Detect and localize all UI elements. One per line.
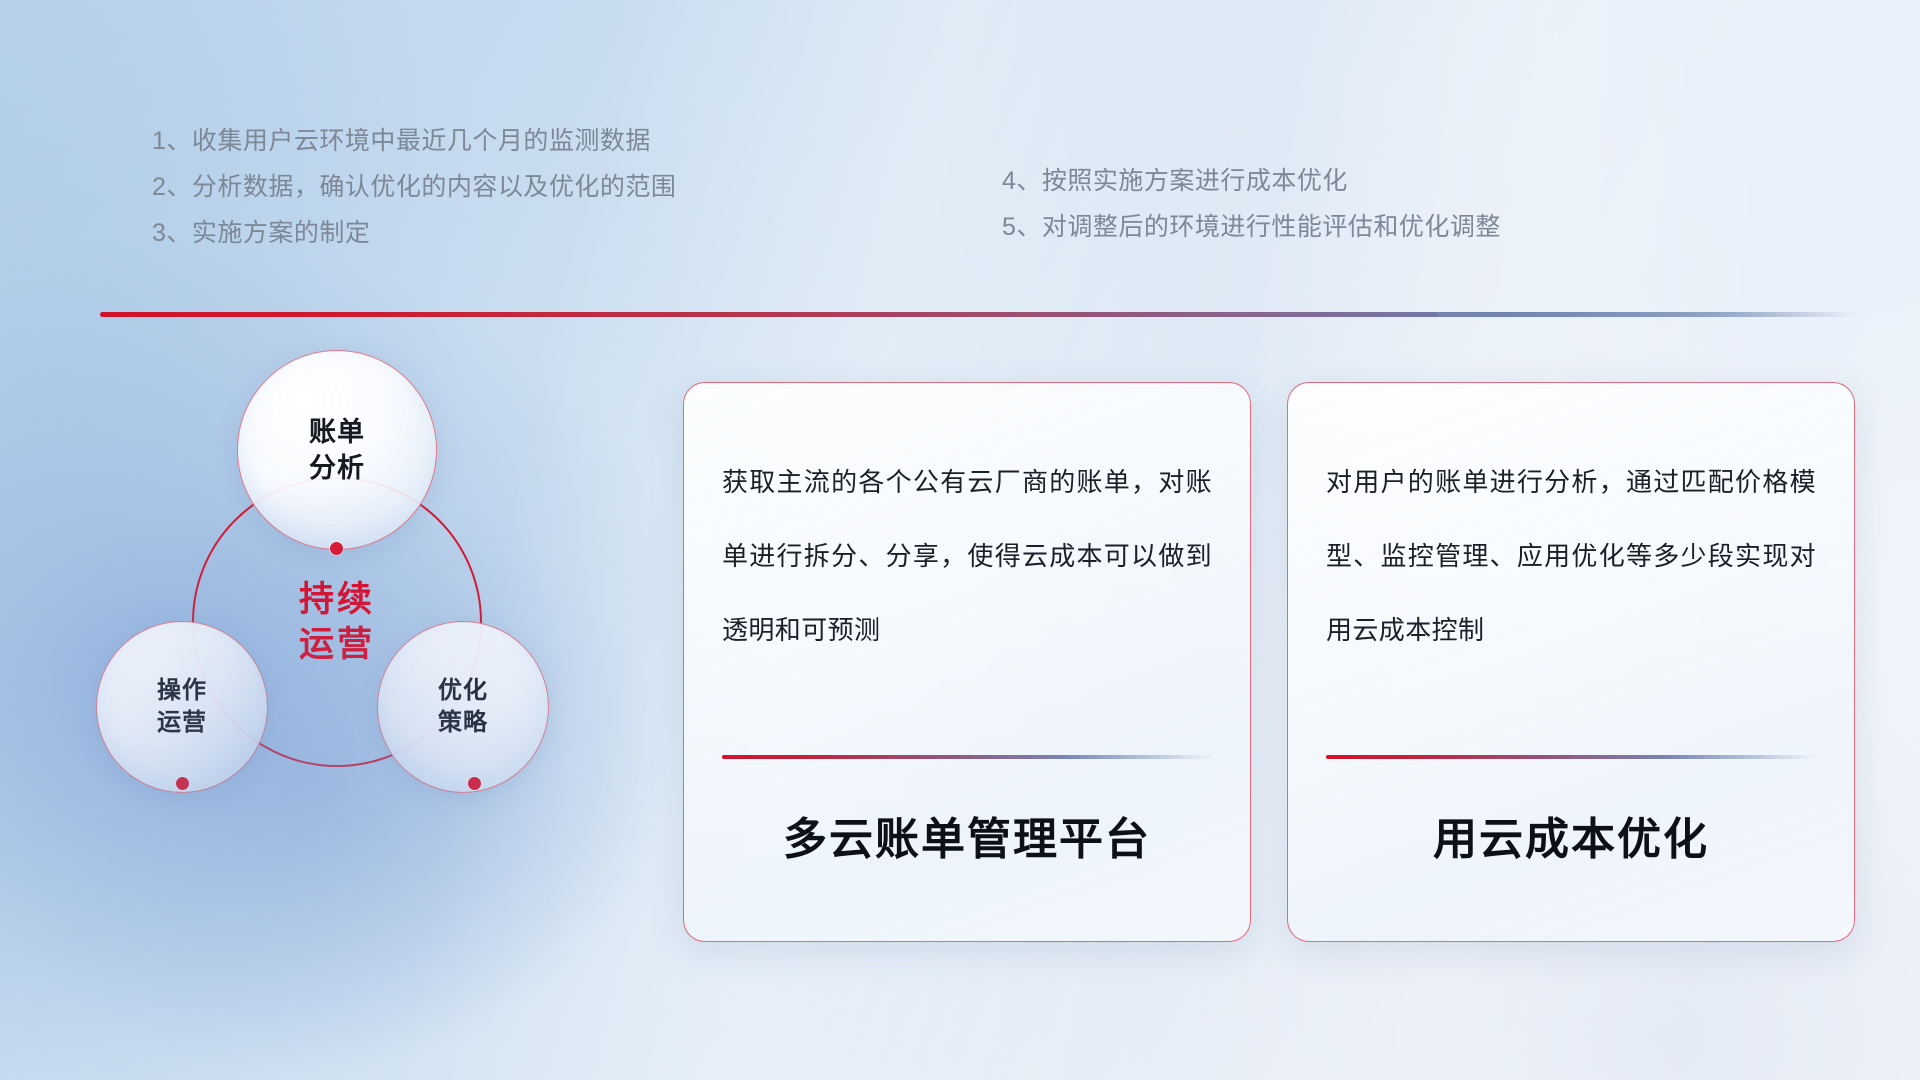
venn-bubble-top-line-2: 分析 [309,450,365,486]
venn-diagram: 持续 运营 账单 分析 操作 运营 优化 策略 [96,350,566,820]
feature-card-1-body: 获取主流的各个公有云厂商的账单，对账单进行拆分、分享，使得云成本可以做到透明和可… [722,445,1212,745]
venn-node-dot-right [468,777,481,790]
venn-node-dot-left [176,777,189,790]
feature-card-1-title: 多云账单管理平台 [722,803,1212,867]
feature-card-multicloud-billing[interactable]: 获取主流的各个公有云厂商的账单，对账单进行拆分、分享，使得云成本可以做到透明和可… [683,382,1251,942]
slide-canvas: 1、收集用户云环境中最近几个月的监测数据 2、分析数据，确认优化的内容以及优化的… [0,0,1920,1080]
divider-tail [1437,312,1857,317]
feature-card-cost-optimization[interactable]: 对用户的账单进行分析，通过匹配价格模型、监控管理、应用优化等多少段实现对用云成本… [1287,382,1855,942]
section-divider [100,312,1855,317]
step-item-2: 2、分析数据，确认优化的内容以及优化的范围 [152,164,676,210]
venn-bubble-operations[interactable]: 操作 运营 [96,621,268,793]
feature-card-2-body: 对用户的账单进行分析，通过匹配价格模型、监控管理、应用优化等多少段实现对用云成本… [1326,445,1816,745]
feature-card-1-rule [722,755,1212,759]
step-item-1: 1、收集用户云环境中最近几个月的监测数据 [152,118,676,164]
venn-bubble-right-line-1: 优化 [438,675,488,707]
venn-bubble-right-line-2: 策略 [438,707,488,739]
step-item-3: 3、实施方案的制定 [152,210,676,256]
feature-card-2-rule [1326,755,1816,759]
steps-list-left: 1、收集用户云环境中最近几个月的监测数据 2、分析数据，确认优化的内容以及优化的… [152,118,676,256]
venn-bubble-top-line-1: 账单 [309,414,365,450]
venn-node-dot-top [330,542,343,555]
venn-bubble-left-line-2: 运营 [157,707,207,739]
steps-list-right: 4、按照实施方案进行成本优化 5、对调整后的环境进行性能评估和优化调整 [1002,158,1501,250]
venn-bubble-left-line-1: 操作 [157,675,207,707]
step-item-5: 5、对调整后的环境进行性能评估和优化调整 [1002,204,1501,250]
venn-bubble-billing-analysis[interactable]: 账单 分析 [237,350,437,550]
venn-bubble-optimization-strategy[interactable]: 优化 策略 [377,621,549,793]
step-item-4: 4、按照实施方案进行成本优化 [1002,158,1501,204]
feature-card-2-title: 用云成本优化 [1326,803,1816,867]
